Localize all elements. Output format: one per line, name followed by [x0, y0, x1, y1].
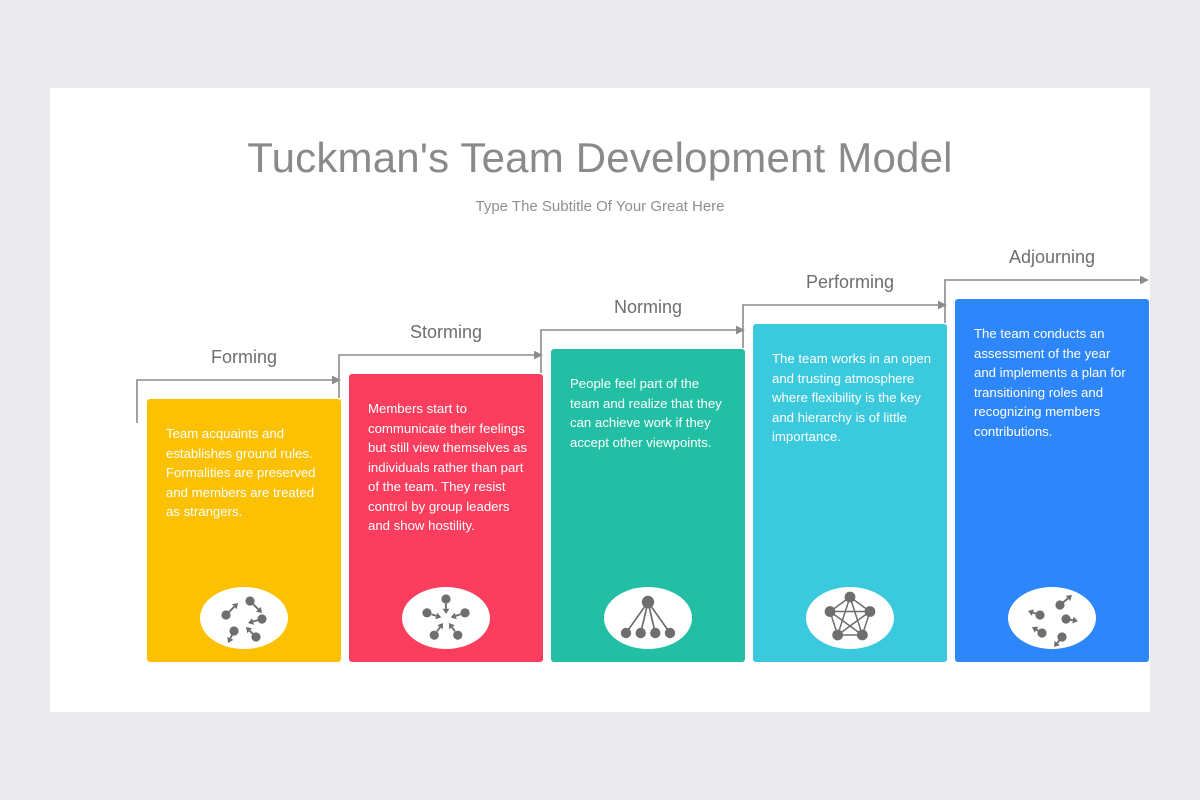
slide-canvas: Tuckman's Team Development Model Type Th… [50, 88, 1150, 712]
stage-card-adjourning[interactable]: The team conducts an assessment of the y… [955, 299, 1149, 662]
stage-card-norming[interactable]: People feel part of the team and realize… [551, 349, 745, 662]
connected-network-icon [806, 587, 894, 649]
converging-nodes-icon [402, 587, 490, 649]
stage-card-storming[interactable]: Members start to communicate their feeli… [349, 374, 543, 662]
stage-description: The team conducts an assessment of the y… [974, 324, 1134, 441]
stage-label-performing: Performing [753, 272, 947, 293]
stage-description: Members start to communicate their feeli… [368, 399, 528, 536]
stage-label-storming: Storming [349, 322, 543, 343]
stage-label-forming: Forming [147, 347, 341, 368]
stage-label-adjourning: Adjourning [955, 247, 1149, 268]
scattered-nodes-icon [200, 587, 288, 649]
stage-description: People feel part of the team and realize… [570, 374, 730, 452]
stage-card-forming[interactable]: Team acquaints and establishes ground ru… [147, 399, 341, 662]
hierarchy-tree-icon [604, 587, 692, 649]
stage-description: Team acquaints and establishes ground ru… [166, 424, 326, 522]
stage-card-performing[interactable]: The team works in an open and trusting a… [753, 324, 947, 662]
dispersing-nodes-icon [1008, 587, 1096, 649]
tuckman-stage-diagram: FormingTeam acquaints and establishes gr… [50, 88, 1150, 712]
stage-label-norming: Norming [551, 297, 745, 318]
stage-description: The team works in an open and trusting a… [772, 349, 932, 447]
